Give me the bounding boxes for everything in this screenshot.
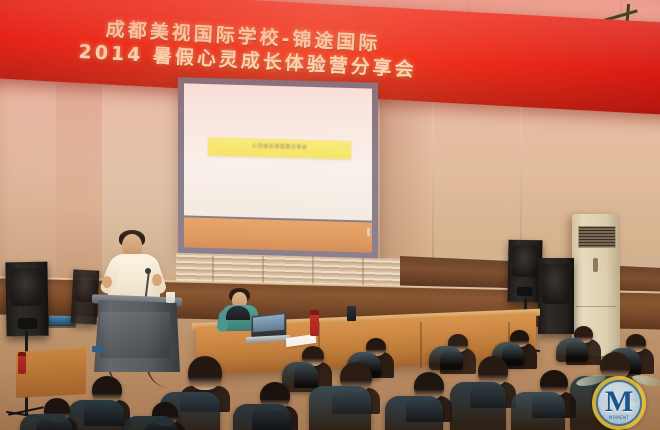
desk-cup xyxy=(347,306,356,321)
audience-chair xyxy=(429,346,463,370)
lecture-hall-photo: 成都美视国际学校-锦途国际 2014 暑假心灵成长体验营分享会 心灵成长体验营分… xyxy=(0,0,660,430)
ac-panel-seam xyxy=(576,306,616,307)
audience-chair xyxy=(20,414,72,430)
audience-chair xyxy=(309,386,371,430)
site-watermark: M MOMENT xyxy=(592,376,646,430)
audience-chair xyxy=(385,396,443,430)
audience-chair xyxy=(450,382,506,430)
desk-bag xyxy=(226,306,250,320)
audience-chair xyxy=(123,416,177,430)
stage-light-wash xyxy=(0,0,660,300)
audience-chair xyxy=(556,338,588,362)
audience-head xyxy=(188,356,222,390)
watermark-ring-text: MOMENT xyxy=(600,415,638,425)
audience-area xyxy=(0,330,660,430)
speaker-port-icon xyxy=(17,318,37,329)
audience-chair xyxy=(511,392,565,430)
audience-chair xyxy=(233,404,291,430)
